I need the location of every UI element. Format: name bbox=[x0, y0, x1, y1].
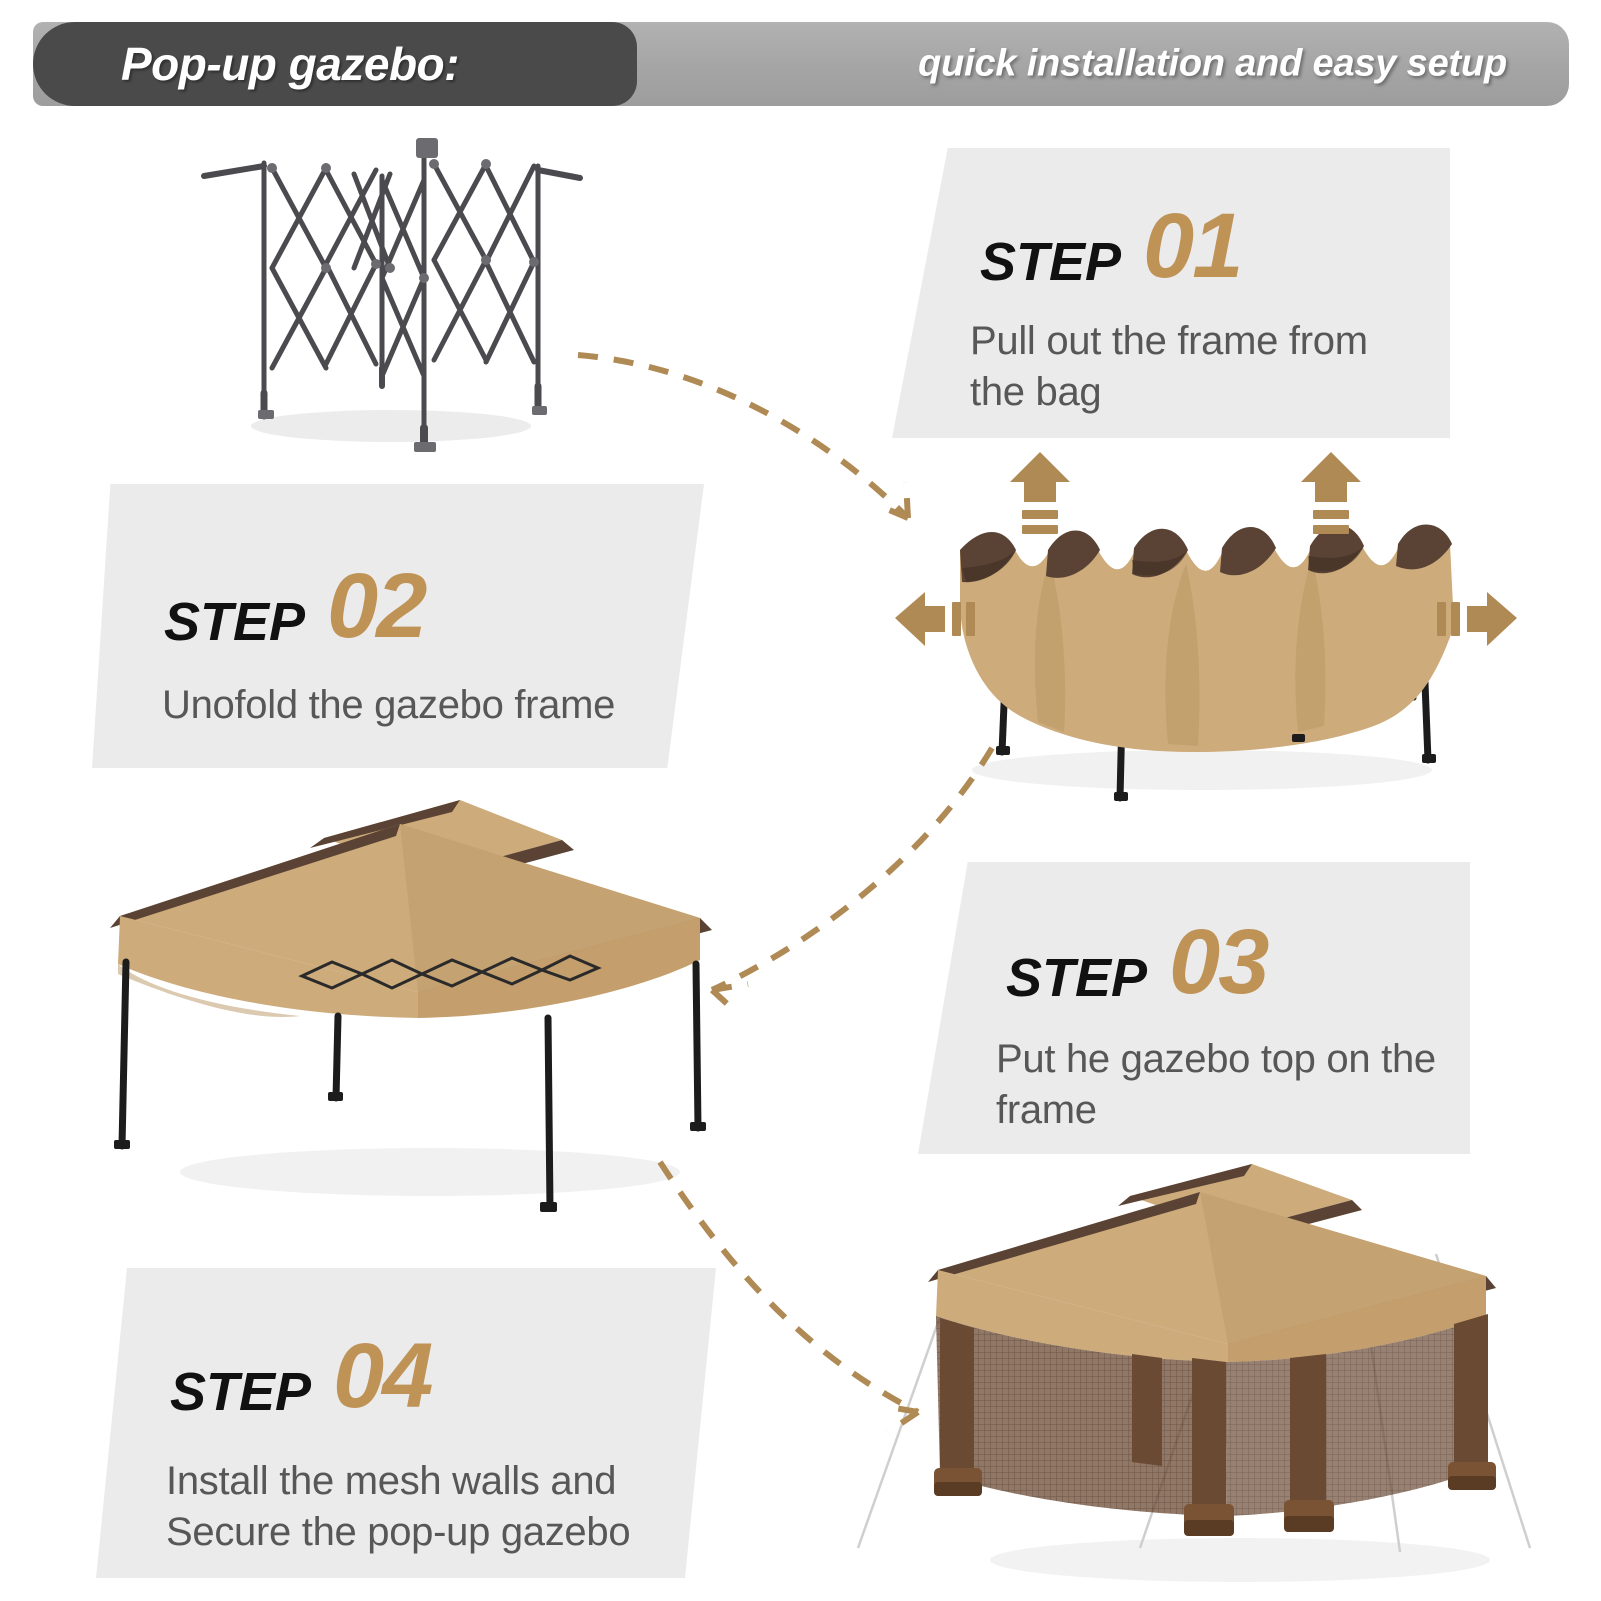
step-label-02: STEP bbox=[164, 595, 305, 649]
header-banner: Pop-up gazebo: quick installation and ea… bbox=[33, 22, 1569, 106]
infographic-canvas: Pop-up gazebo: quick installation and ea… bbox=[0, 0, 1601, 1601]
step-number-01: 01 bbox=[1143, 204, 1241, 289]
step-label-04: STEP bbox=[170, 1365, 311, 1419]
step-number-04: 04 bbox=[333, 1334, 431, 1419]
step-card-03-heading: STEP 03 bbox=[1006, 920, 1267, 1005]
step-description-02: Unofold the gazebo frame bbox=[162, 680, 682, 731]
step-card-03: STEP 03 Put he gazebo top on the frame bbox=[918, 862, 1470, 1154]
step-description-01: Pull out the frame from the bag bbox=[970, 316, 1430, 418]
step-description-03: Put he gazebo top on the frame bbox=[996, 1034, 1456, 1136]
step-card-01-heading: STEP 01 bbox=[980, 204, 1241, 289]
step-card-02-heading: STEP 02 bbox=[164, 564, 425, 649]
step-number-03: 03 bbox=[1169, 920, 1267, 1005]
step-card-02: STEP 02 Unofold the gazebo frame bbox=[92, 484, 704, 768]
step-number-02: 02 bbox=[327, 564, 425, 649]
step-card-04: STEP 04 Install the mesh walls and Secur… bbox=[96, 1268, 716, 1578]
header-subtitle: quick installation and easy setup bbox=[918, 43, 1507, 86]
step-label-03: STEP bbox=[1006, 951, 1147, 1005]
gazebo-with-mesh-walls-illustration bbox=[840, 1148, 1548, 1600]
gazebo-canopy-on-frame-illustration bbox=[862, 440, 1482, 805]
page-title: Pop-up gazebo: bbox=[121, 37, 459, 91]
step-label-01: STEP bbox=[980, 235, 1121, 289]
folded-gazebo-frame-illustration bbox=[176, 128, 586, 458]
step-card-01: STEP 01 Pull out the frame from the bag bbox=[892, 148, 1450, 438]
step-description-04: Install the mesh walls and Secure the po… bbox=[166, 1456, 706, 1558]
assembled-gazebo-illustration bbox=[100, 768, 724, 1220]
step-card-04-heading: STEP 04 bbox=[170, 1334, 431, 1419]
